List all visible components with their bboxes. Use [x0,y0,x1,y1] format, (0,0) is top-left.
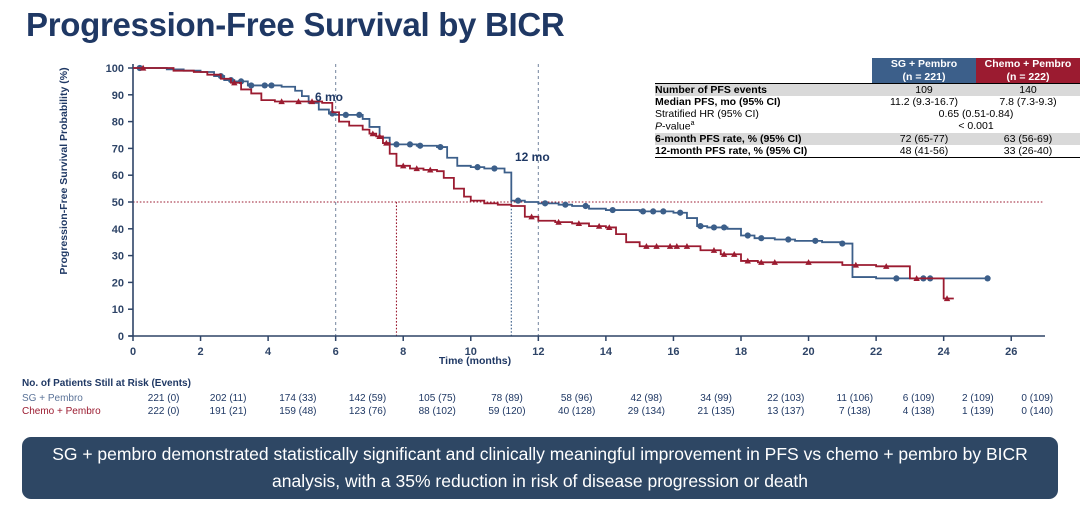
stats-table: SG + Pembro(n = 221)Chemo + Pembro(n = 2… [655,58,1080,158]
censor-mark-sg [697,223,703,229]
risk-cell: 2 (109) [948,392,1007,405]
risk-cell: 42 (98) [612,392,682,405]
stats-column-header-name: SG + Pembro [872,58,976,71]
y-tick-label: 60 [112,170,124,182]
stats-table-row: 12-month PFS rate, % (95% CI)48 (41-56)3… [655,145,1080,158]
censor-mark-sg [893,275,899,281]
stats-table-row: Number of PFS events109140 [655,84,1080,97]
y-tick-label: 70 [112,143,124,155]
censor-mark-sg [262,82,268,88]
y-tick-label: 40 [112,224,124,236]
stats-row-value-2: 7.8 (7.3-9.3) [976,96,1080,108]
censor-mark-sg [785,236,791,242]
censor-mark-sg [343,112,349,118]
censor-mark-sg [437,144,443,150]
page-title: Progression-Free Survival by BICR [26,6,564,44]
risk-cell: 191 (21) [193,405,263,418]
risk-cell: 29 (134) [612,405,682,418]
conclusion-banner-text: SG + pembro demonstrated statistically s… [40,441,1040,495]
stats-row-value-2: 140 [976,84,1080,97]
censor-mark-sg [650,208,656,214]
stats-table-row: Stratified HR (95% CI)0.65 (0.51-0.84) [655,108,1080,120]
risk-table-block: No. of Patients Still at Risk (Events) S… [22,378,1067,418]
risk-cell: 13 (137) [751,405,821,418]
risk-cell: 34 (99) [681,392,751,405]
risk-row-label: SG + Pembro [22,392,134,405]
censor-mark-sg [562,202,568,208]
censor-mark-sg [812,238,818,244]
censor-mark-sg [248,82,254,88]
stats-row-value-span: 0.65 (0.51-0.84) [872,108,1080,120]
stats-row-value-1: 48 (41-56) [872,145,976,158]
risk-cell: 174 (33) [263,392,333,405]
y-axis-title: Progression-Free Survival Probability (%… [58,46,70,296]
annotation-6mo: 6 mo [315,90,343,104]
risk-cell: 159 (48) [263,405,333,418]
stats-row-value-1: 72 (65-77) [872,133,976,145]
censor-mark-sg [984,275,990,281]
stats-row-label: 12-month PFS rate, % (95% CI) [655,145,872,158]
slide-root: Progression-Free Survival by BICR 010203… [0,0,1080,508]
risk-row-label: Chemo + Pembro [22,405,134,418]
censor-mark-sg [660,208,666,214]
risk-cell: 0 (140) [1008,405,1067,418]
risk-cell: 7 (138) [821,405,889,418]
risk-cell: 11 (106) [821,392,889,405]
censor-mark-sg [417,143,423,149]
risk-cell: 105 (75) [402,392,472,405]
censor-mark-sg [677,210,683,216]
risk-cell: 4 (138) [889,405,948,418]
stats-row-value-1: 109 [872,84,976,97]
stats-row-label: 6-month PFS rate, % (95% CI) [655,133,872,145]
stats-row-value-span: < 0.001 [872,120,1080,133]
censor-mark-sg [491,165,497,171]
stats-table-header-row: SG + Pembro(n = 221)Chemo + Pembro(n = 2… [655,58,1080,84]
conclusion-banner: SG + pembro demonstrated statistically s… [22,437,1058,499]
censor-mark-sg [474,164,480,170]
censor-mark-sg [758,235,764,241]
risk-cell: 58 (96) [542,392,612,405]
y-tick-label: 90 [112,90,124,102]
stats-table-row: P-valuea< 0.001 [655,120,1080,133]
stats-row-label: Median PFS, mo (95% CI) [655,96,872,108]
censor-mark-sg [610,207,616,213]
censor-mark-sg [721,224,727,230]
risk-table: SG + Pembro221 (0)202 (11)174 (33)142 (5… [22,392,1067,418]
stats-row-value-2: 63 (56-69) [976,133,1080,145]
risk-cell: 22 (103) [751,392,821,405]
stats-header-blank [655,58,872,84]
y-tick-label: 0 [118,331,124,343]
stats-column-header-n: (n = 222) [976,71,1080,84]
censor-mark-sg [515,198,521,204]
stats-table-row: 6-month PFS rate, % (95% CI)72 (65-77)63… [655,133,1080,145]
risk-cell: 21 (135) [681,405,751,418]
risk-cell: 6 (109) [889,392,948,405]
censor-mark-sg [711,224,717,230]
y-tick-label: 20 [112,277,124,289]
risk-table-row: Chemo + Pembro222 (0)191 (21)159 (48)123… [22,405,1067,418]
risk-cell: 0 (109) [1008,392,1067,405]
y-tick-label: 30 [112,251,124,263]
risk-cell: 88 (102) [402,405,472,418]
censor-mark-sg [583,203,589,209]
stats-row-footnote-marker: a [691,120,695,127]
censor-mark-sg [542,200,548,206]
x-tick-label: 26 [1005,346,1017,358]
x-axis-title: Time (months) [0,355,950,367]
y-tick-label: 100 [106,63,124,75]
censor-mark-sg [268,82,274,88]
stats-table-row: Median PFS, mo (95% CI)11.2 (9.3-16.7)7.… [655,96,1080,108]
risk-cell: 221 (0) [134,392,193,405]
censor-mark-sg [393,141,399,147]
risk-cell: 202 (11) [193,392,263,405]
risk-cell: 59 (120) [472,405,542,418]
censor-mark-sg [640,208,646,214]
censor-mark-sg [745,232,751,238]
risk-cell: 123 (76) [333,405,403,418]
stats-column-header-2: Chemo + Pembro(n = 222) [976,58,1080,84]
risk-cell: 1 (139) [948,405,1007,418]
risk-cell: 78 (89) [472,392,542,405]
stats-row-label: Number of PFS events [655,84,872,97]
stats-row-value-1: 11.2 (9.3-16.7) [872,96,976,108]
censor-mark-sg [407,141,413,147]
risk-table-row: SG + Pembro221 (0)202 (11)174 (33)142 (5… [22,392,1067,405]
stats-row-label: Stratified HR (95% CI) [655,108,872,120]
annotation-12mo: 12 mo [515,150,550,164]
stats-column-header-name: Chemo + Pembro [976,58,1080,71]
stats-row-value-2: 33 (26-40) [976,145,1080,158]
censor-mark-sg [839,240,845,246]
stats-column-header-n: (n = 221) [872,71,976,84]
risk-cell: 142 (59) [333,392,403,405]
y-tick-label: 50 [112,197,124,209]
risk-cell: 222 (0) [134,405,193,418]
risk-cell: 40 (128) [542,405,612,418]
censor-mark-sg [356,112,362,118]
y-tick-label: 80 [112,117,124,129]
stats-row-label: P-valuea [655,120,872,133]
risk-table-title: No. of Patients Still at Risk (Events) [22,378,1067,389]
stats-column-header-1: SG + Pembro(n = 221) [872,58,976,84]
y-tick-label: 10 [112,304,124,316]
